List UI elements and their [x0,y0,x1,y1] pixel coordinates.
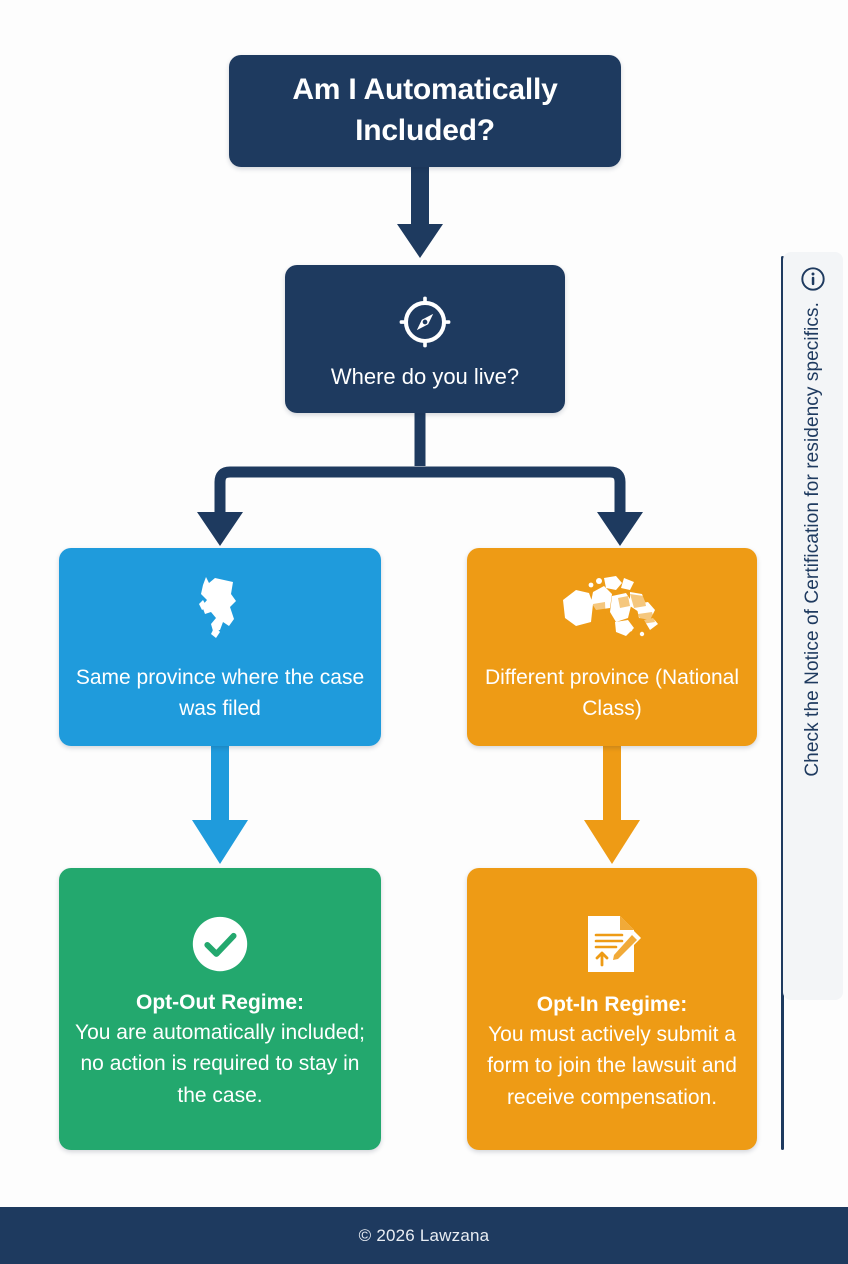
node-outcome-opt-out-body: You are automatically included; no actio… [59,1017,381,1112]
node-outcome-opt-in[interactable]: Opt-In Regime: You must actively submit … [467,868,757,1150]
node-title[interactable]: Am I Automatically Included? [229,55,621,167]
node-branch-same-province-label: Same province where the case was filed [59,662,381,724]
compass-icon [396,293,454,351]
form-document-pencil-icon [582,913,642,975]
diagram-canvas: Am I Automatically Included? Where do yo… [0,0,848,1264]
canada-map-icon [560,574,664,648]
node-decision-where-do-you-live[interactable]: Where do you live? [285,265,565,413]
node-outcome-opt-out[interactable]: Opt-Out Regime: You are automatically in… [59,868,381,1150]
node-decision-label: Where do you live? [331,363,519,391]
node-branch-different-province[interactable]: Different province (National Class) [467,548,757,746]
side-note-panel: Check the Notice of Certification for re… [783,252,843,1000]
british-columbia-province-icon [189,574,251,648]
flowchart: Am I Automatically Included? Where do yo… [0,0,780,1190]
node-branch-different-province-label: Different province (National Class) [467,662,757,724]
node-outcome-opt-in-title: Opt-In Regime: [537,991,688,1018]
side-note-text: Check the Notice of Certification for re… [802,302,824,777]
footer-copyright: © 2026 Lawzana [359,1226,490,1246]
check-circle-icon [191,915,249,973]
info-circle-icon [800,266,826,292]
node-outcome-opt-out-title: Opt-Out Regime: [136,989,304,1016]
node-title-label: Am I Automatically Included? [251,70,599,152]
footer-bar: © 2026 Lawzana [0,1207,848,1264]
node-branch-same-province[interactable]: Same province where the case was filed [59,548,381,746]
node-outcome-opt-in-body: You must actively submit a form to join … [467,1019,757,1114]
